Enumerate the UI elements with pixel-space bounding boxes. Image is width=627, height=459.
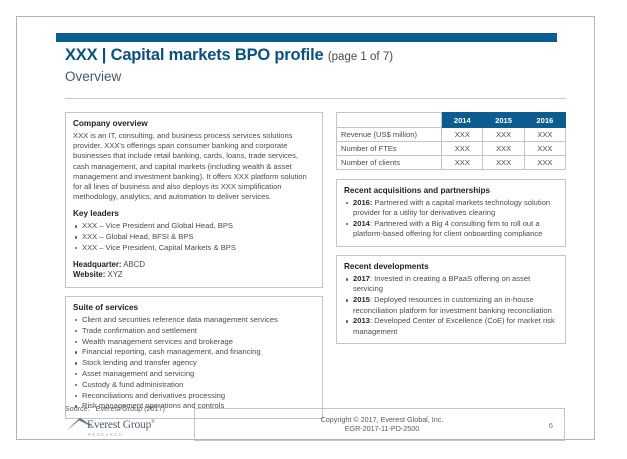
- title-page-indicator: (page 1 of 7): [328, 51, 393, 63]
- list-item: 2013: Developed Center of Excellence (Co…: [344, 316, 558, 337]
- item-year: 2013: [353, 316, 370, 325]
- copyright-line-1: Copyright © 2017, Everest Global, Inc.: [277, 415, 487, 424]
- acquisitions-list: 2016: Partnered with a capital markets t…: [344, 198, 558, 240]
- list-item: Custody & fund administration: [73, 380, 315, 390]
- list-item: Stock lending and transfer agency: [73, 358, 315, 368]
- title-main-text: XXX | Capital markets BPO profile: [65, 46, 323, 64]
- logo-wordmark: Everest Group®: [87, 419, 155, 431]
- list-item: XXX – Vice President and Global Head, BP…: [73, 221, 315, 231]
- company-overview-body: XXX is an IT, consulting, and business p…: [73, 131, 315, 202]
- list-item: XXX – Global Head, BFSI & BPS: [73, 232, 315, 242]
- list-item: Trade confirmation and settlement: [73, 326, 315, 336]
- page-number: 6: [549, 421, 553, 430]
- column-header-2015: 2015: [483, 113, 524, 128]
- company-overview-panel: Company overview XXX is an IT, consultin…: [65, 112, 323, 288]
- website-value[interactable]: XYZ: [108, 270, 123, 279]
- list-item: 2015: Deployed resources in customizing …: [344, 295, 558, 316]
- title-accent-bar: [56, 33, 557, 42]
- cell-value: XXX: [483, 128, 524, 142]
- copyright-line-2: EGR-2017-11-PD-2500: [277, 424, 487, 433]
- item-year: 2014: [353, 219, 370, 228]
- developments-list: 2017: Invested in creating a BPaaS offer…: [344, 274, 558, 337]
- item-text: : Invested in creating a BPaaS offering …: [353, 274, 530, 293]
- slide-canvas: XXX | Capital markets BPO profile (page …: [16, 16, 595, 440]
- metrics-table: 2014 2015 2016 Revenue (US$ million) XXX…: [336, 112, 566, 170]
- cell-value: XXX: [483, 156, 524, 170]
- cell-value: XXX: [524, 156, 565, 170]
- suite-of-services-list: Client and securities reference data man…: [73, 315, 315, 412]
- title-main-line: XXX | Capital markets BPO profile (page …: [65, 46, 575, 67]
- source-note: Source:Everest Group (2017): [65, 404, 165, 413]
- acquisitions-panel: Recent acquisitions and partnerships 201…: [336, 179, 566, 247]
- table-row: Number of clients XXX XXX XXX: [337, 156, 566, 170]
- list-item: Reconciliations and derivatives processi…: [73, 391, 315, 401]
- row-label: Revenue (US$ million): [337, 128, 442, 142]
- cell-value: XXX: [483, 142, 524, 156]
- website-label: Website:: [73, 270, 105, 279]
- headquarter-label: Headquarter:: [73, 260, 122, 269]
- item-text: : Deployed resources in customizing an i…: [353, 295, 552, 314]
- left-column: Company overview XXX is an IT, consultin…: [65, 112, 323, 427]
- cell-value: XXX: [442, 142, 483, 156]
- everest-group-logo: Everest Group® RESEARCH: [65, 415, 177, 441]
- acquisitions-heading: Recent acquisitions and partnerships: [344, 185, 558, 196]
- source-value: Everest Group (2017): [96, 404, 165, 413]
- item-text: : Partnered with a Big 4 consulting firm…: [353, 219, 542, 238]
- list-item: 2017: Invested in creating a BPaaS offer…: [344, 274, 558, 295]
- list-item: Client and securities reference data man…: [73, 315, 315, 325]
- title-divider: [65, 98, 566, 99]
- cell-value: XXX: [524, 142, 565, 156]
- row-label: Number of FTEs: [337, 142, 442, 156]
- item-year: 2015: [353, 295, 370, 304]
- table-row: Number of FTEs XXX XXX XXX: [337, 142, 566, 156]
- key-leaders-list: XXX – Vice President and Global Head, BP…: [73, 221, 315, 253]
- suite-of-services-heading: Suite of services: [73, 302, 315, 313]
- suite-of-services-panel: Suite of services Client and securities …: [65, 296, 323, 419]
- column-header-blank: [337, 113, 442, 128]
- developments-panel: Recent developments 2017: Invested in cr…: [336, 255, 566, 344]
- key-leaders-heading: Key leaders: [73, 208, 315, 219]
- table-row: Revenue (US$ million) XXX XXX XXX: [337, 128, 566, 142]
- metrics-table-body: Revenue (US$ million) XXX XXX XXX Number…: [337, 128, 566, 170]
- item-year: 2016:: [353, 198, 372, 207]
- logo-name-text: Everest Group: [87, 419, 151, 431]
- list-item: Wealth management services and brokerage: [73, 337, 315, 347]
- metrics-table-wrapper: 2014 2015 2016 Revenue (US$ million) XXX…: [336, 112, 566, 170]
- headquarter-value: ABCD: [123, 260, 145, 269]
- item-text: Partnered with a capital markets technol…: [353, 198, 550, 217]
- copyright-box: Copyright © 2017, Everest Global, Inc. E…: [194, 408, 565, 441]
- list-item: 2016: Partnered with a capital markets t…: [344, 198, 558, 219]
- list-item: 2014: Partnered with a Big 4 consulting …: [344, 219, 558, 240]
- list-item: XXX – Vice President, Capital Markets & …: [73, 243, 315, 253]
- cell-value: XXX: [442, 128, 483, 142]
- company-overview-heading: Company overview: [73, 118, 315, 129]
- row-label: Number of clients: [337, 156, 442, 170]
- table-header-row: 2014 2015 2016: [337, 113, 566, 128]
- copyright-text: Copyright © 2017, Everest Global, Inc. E…: [277, 415, 487, 434]
- column-header-2016: 2016: [524, 113, 565, 128]
- item-text: : Developed Center of Excellence (CoE) f…: [353, 316, 555, 335]
- cell-value: XXX: [442, 156, 483, 170]
- title-subtitle: Overview: [65, 68, 575, 86]
- list-item: Asset management and servicing: [73, 369, 315, 379]
- developments-heading: Recent developments: [344, 261, 558, 272]
- right-column: 2014 2015 2016 Revenue (US$ million) XXX…: [336, 112, 566, 352]
- headquarter-row: Headquarter: ABCD: [73, 260, 315, 271]
- item-year: 2017: [353, 274, 370, 283]
- logo-subtitle: RESEARCH: [88, 432, 124, 437]
- column-header-2014: 2014: [442, 113, 483, 128]
- logo-trademark: ®: [151, 420, 155, 425]
- cell-value: XXX: [524, 128, 565, 142]
- page-title: XXX | Capital markets BPO profile (page …: [65, 46, 575, 86]
- source-label: Source:: [65, 404, 90, 413]
- website-row: Website: XYZ: [73, 270, 315, 281]
- metrics-table-head: 2014 2015 2016: [337, 113, 566, 128]
- list-item: Financial reporting, cash management, an…: [73, 347, 315, 357]
